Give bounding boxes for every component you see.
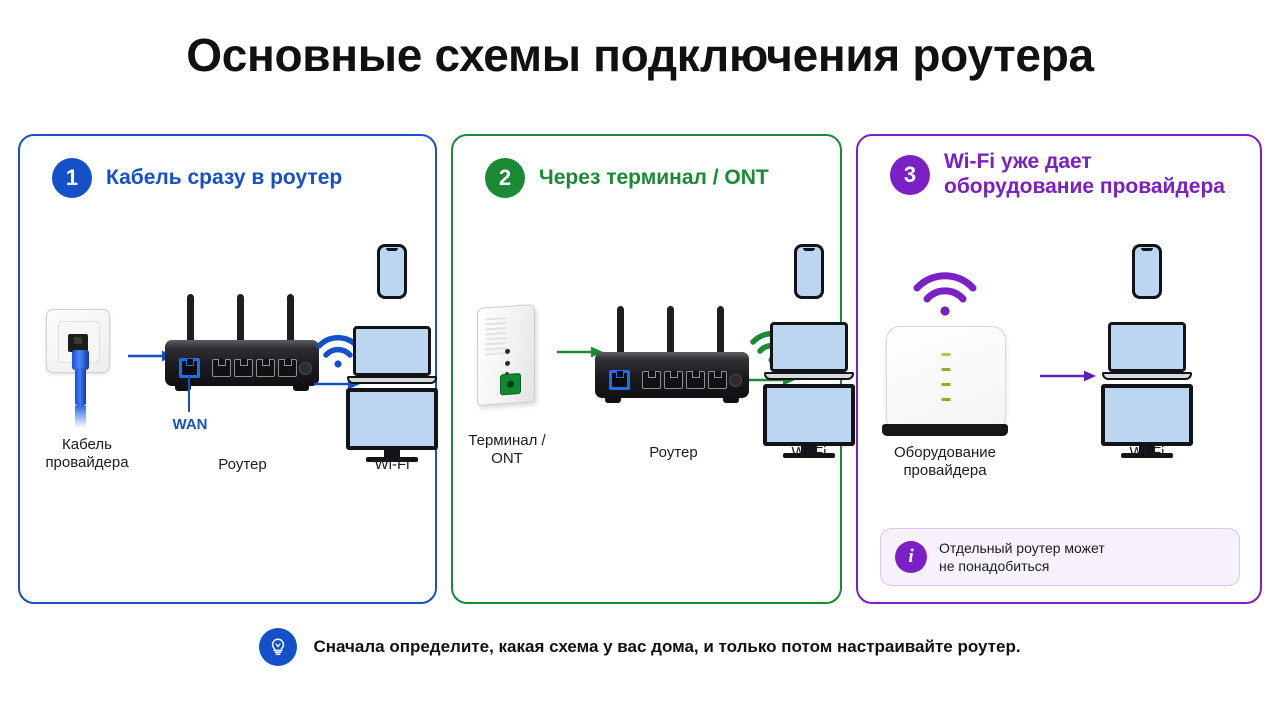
router-antenna <box>237 294 244 346</box>
led <box>942 353 951 356</box>
router-antenna <box>187 294 194 346</box>
router-antenna <box>617 306 624 358</box>
router-antenna <box>287 294 294 346</box>
laptop-base <box>1102 372 1192 380</box>
panel-2-header: 2 Через терминал / ONT <box>485 158 769 198</box>
page-title: Основные схемы подключения роутера <box>0 28 1280 82</box>
router-antenna <box>717 306 724 358</box>
panel-3-wifi-label: Wi-Fi <box>1097 444 1197 462</box>
panel-3-header: 3 Wi-Fi уже дает оборудование провайдера <box>890 150 1225 200</box>
panel-3-title: Wi-Fi уже дает оборудование провайдера <box>944 150 1225 200</box>
phone-icon <box>794 244 824 299</box>
lan-port <box>256 359 275 377</box>
laptop-base <box>347 376 437 384</box>
router-ports <box>609 370 727 390</box>
router-foot <box>605 397 621 403</box>
router-power-button <box>299 362 312 375</box>
provider-equipment-icon <box>886 326 1006 432</box>
panel-1-wifi-label: Wi-Fi <box>342 456 442 474</box>
panel-1-header: 1 Кабель сразу в роутер <box>52 158 342 198</box>
router-antenna <box>667 306 674 358</box>
laptop-screen <box>1108 322 1186 372</box>
tv-screen <box>346 388 438 450</box>
panel-2-badge: 2 <box>485 158 525 198</box>
laptop-base <box>764 372 854 380</box>
ethernet-cable-fade <box>75 406 86 428</box>
ont-vents <box>485 317 507 353</box>
router-power-button <box>729 374 742 387</box>
wan-port <box>609 370 630 390</box>
footer-tip-text: Сначала определите, какая схема у вас до… <box>313 637 1020 657</box>
laptop-screen <box>770 322 848 372</box>
ont-terminal-icon <box>477 304 535 406</box>
panel-3-source-label: Оборудование провайдера <box>870 444 1020 481</box>
panel-3-badge: 3 <box>890 155 930 195</box>
panel-2-wifi-label: Wi-Fi <box>759 444 859 462</box>
router-foot <box>723 397 739 403</box>
led <box>942 398 951 401</box>
lan-port <box>234 359 253 377</box>
scheme-panel-3: 3 Wi-Fi уже дает оборудование провайдера… <box>856 134 1262 604</box>
panel-2-router-label: Роутер <box>601 444 746 462</box>
tv-screen <box>1101 384 1193 446</box>
router-ports <box>179 358 297 378</box>
lan-port <box>708 371 727 389</box>
provider-equipment-base <box>882 424 1008 436</box>
lightbulb-glyph <box>267 636 289 658</box>
lan-port <box>642 371 661 389</box>
ont-optical-port <box>500 373 521 395</box>
led <box>942 383 951 386</box>
lan-port <box>664 371 683 389</box>
schemes-container: 1 Кабель сразу в роутер Кабель провайдер… <box>18 134 1262 604</box>
led <box>942 368 951 371</box>
ont-indicator <box>505 349 510 354</box>
ethernet-plug-icon <box>72 350 89 370</box>
phone-icon <box>377 244 407 299</box>
info-note-text: Отдельный роутер может не понадобиться <box>939 539 1105 575</box>
panel-1-router-label: Роутер <box>170 456 315 474</box>
info-icon: i <box>895 541 927 573</box>
wan-pointer-line <box>188 376 190 412</box>
status-leds <box>942 353 951 413</box>
panel-1-title: Кабель сразу в роутер <box>106 166 342 191</box>
ethernet-cable-icon <box>75 368 86 406</box>
wan-port <box>179 358 200 378</box>
lightbulb-icon <box>259 628 297 666</box>
arrow-right-icon <box>1040 368 1096 384</box>
footer-tip: Сначала определите, какая схема у вас до… <box>0 628 1280 666</box>
scheme-panel-2: 2 Через терминал / ONT Терминал / ONT <box>451 134 842 604</box>
panel-1-badge: 1 <box>52 158 92 198</box>
wan-label: WAN <box>160 416 220 434</box>
scheme-panel-1: 1 Кабель сразу в роутер Кабель провайдер… <box>18 134 437 604</box>
tv-screen <box>763 384 855 446</box>
lan-port <box>278 359 297 377</box>
lan-port <box>212 359 231 377</box>
ont-indicator <box>505 361 510 366</box>
phone-icon <box>1132 244 1162 299</box>
laptop-screen <box>353 326 431 376</box>
wifi-signal-icon <box>912 264 978 320</box>
info-note: i Отдельный роутер может не понадобиться <box>880 528 1240 586</box>
panel-2-source-label: Терминал / ONT <box>459 432 555 469</box>
panel-1-source-label: Кабель провайдера <box>32 436 142 473</box>
router-foot <box>293 385 309 391</box>
lan-port <box>686 371 705 389</box>
panel-2-title: Через терминал / ONT <box>539 166 769 191</box>
